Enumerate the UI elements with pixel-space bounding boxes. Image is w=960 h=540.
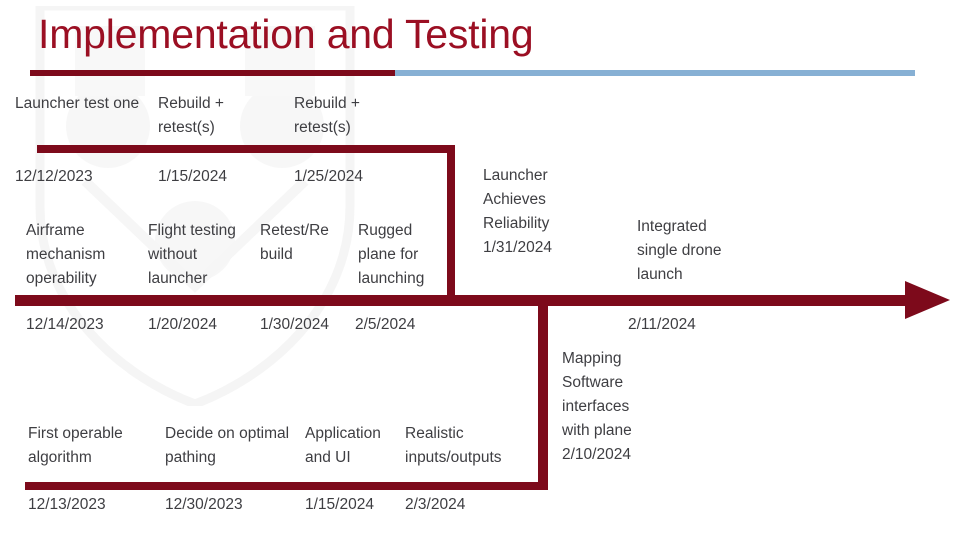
bottom-milestone-label-2: Decide on optimal pathing (165, 422, 300, 470)
bottom-milestone-label-4: Realistic inputs/outputs (405, 422, 527, 470)
middle-milestone-date-1: 12/14/2023 (26, 313, 104, 337)
bottom-milestone-date-4: 2/3/2024 (405, 493, 465, 517)
middle-milestone-date-4: 2/5/2024 (355, 313, 415, 337)
header-rule-maroon (30, 70, 395, 76)
converged-milestone-label-1: Launcher Achieves Reliability (483, 164, 578, 236)
top-milestone-label-1: Launcher test one (15, 92, 147, 116)
top-bracket-horizontal (37, 145, 455, 153)
bottom-milestone-date-1: 12/13/2023 (28, 493, 106, 517)
main-timeline-shaft (15, 295, 915, 306)
bottom-milestone-date-2: 12/30/2023 (165, 493, 243, 517)
bottom-bracket-vertical (538, 300, 548, 490)
middle-milestone-date-3: 1/30/2024 (260, 313, 329, 337)
converged-milestone-date-3: 2/10/2024 (562, 443, 631, 467)
middle-milestone-label-3: Retest/Re build (260, 219, 340, 267)
converged-milestone-label-2: Integrated single drone launch (637, 215, 737, 287)
bottom-milestone-date-3: 1/15/2024 (305, 493, 374, 517)
slide-canvas: Implementation and Testing Launcher test… (0, 0, 960, 540)
top-milestone-date-1: 12/12/2023 (15, 165, 93, 189)
converged-milestone-label-3: Mapping Software interfaces with plane (562, 347, 654, 443)
middle-milestone-label-2: Flight testing without launcher (148, 219, 258, 291)
timeline-arrowhead-icon (905, 281, 950, 319)
university-crest-watermark (30, 6, 360, 406)
top-milestone-label-2: Rebuild + retest(s) (158, 92, 278, 140)
bottom-bracket-horizontal (25, 482, 548, 490)
top-milestone-date-3: 1/25/2024 (294, 165, 363, 189)
bottom-milestone-label-1: First operable algorithm (28, 422, 158, 470)
bottom-milestone-label-3: Application and UI (305, 422, 397, 470)
top-milestone-label-3: Rebuild + retest(s) (294, 92, 414, 140)
page-title: Implementation and Testing (38, 8, 533, 60)
middle-milestone-label-1: Airframe mechanism operability (26, 219, 144, 291)
middle-milestone-date-2: 1/20/2024 (148, 313, 217, 337)
converged-milestone-date-1: 1/31/2024 (483, 236, 552, 260)
converged-milestone-date-2: 2/11/2024 (628, 313, 696, 337)
top-milestone-date-2: 1/15/2024 (158, 165, 227, 189)
top-bracket-vertical (447, 145, 455, 300)
header-rule-blue (395, 70, 915, 76)
middle-milestone-label-4: Rugged plane for launching (358, 219, 448, 291)
